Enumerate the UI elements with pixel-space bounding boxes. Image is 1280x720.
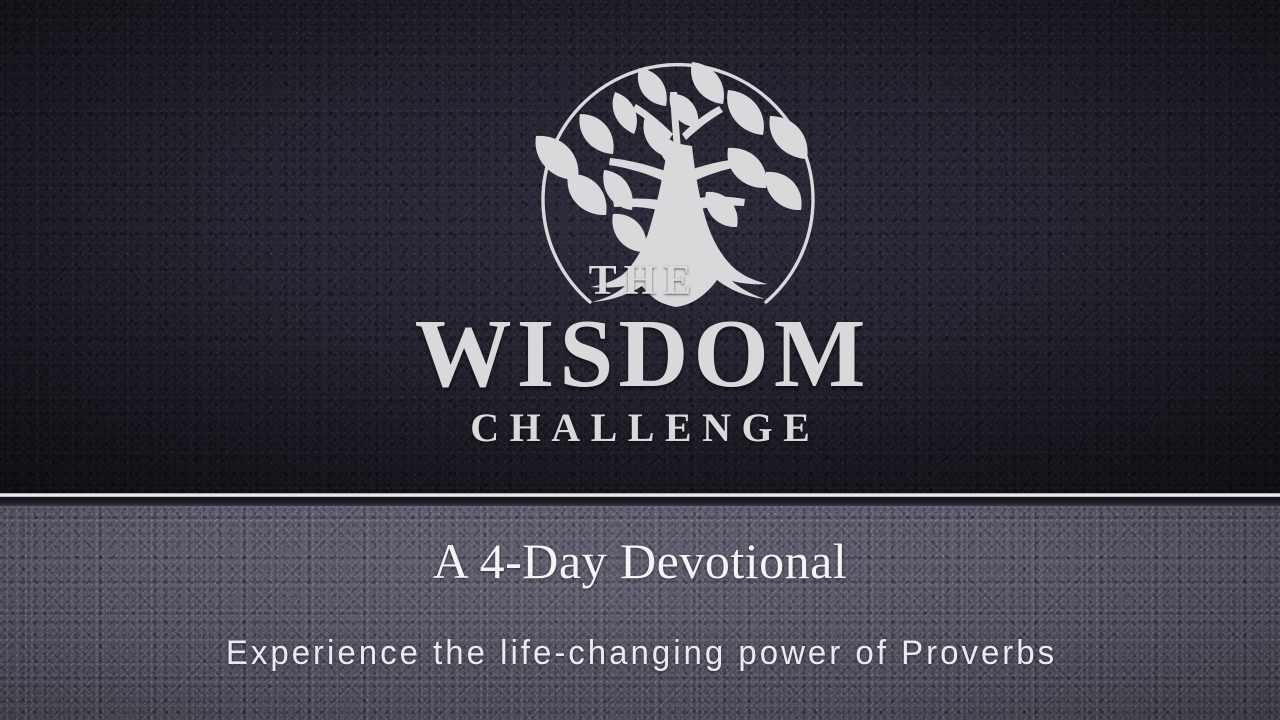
devotional-title-slide: THE WISDOM CHALLENGE A 4-Day Devotional …	[0, 0, 1280, 720]
wordmark-line-the: THE	[0, 258, 1280, 304]
wordmark: THE WISDOM CHALLENGE	[0, 258, 1280, 450]
devotional-headline: A 4-Day Devotional	[0, 532, 1280, 590]
devotional-tagline: Experience the life-changing power of Pr…	[19, 632, 1261, 674]
wordmark-line-wisdom: WISDOM	[0, 308, 1280, 400]
wordmark-line-challenge: CHALLENGE	[0, 406, 1280, 450]
logo-block: THE WISDOM CHALLENGE	[0, 0, 1280, 495]
divider-shadow	[0, 497, 1280, 506]
